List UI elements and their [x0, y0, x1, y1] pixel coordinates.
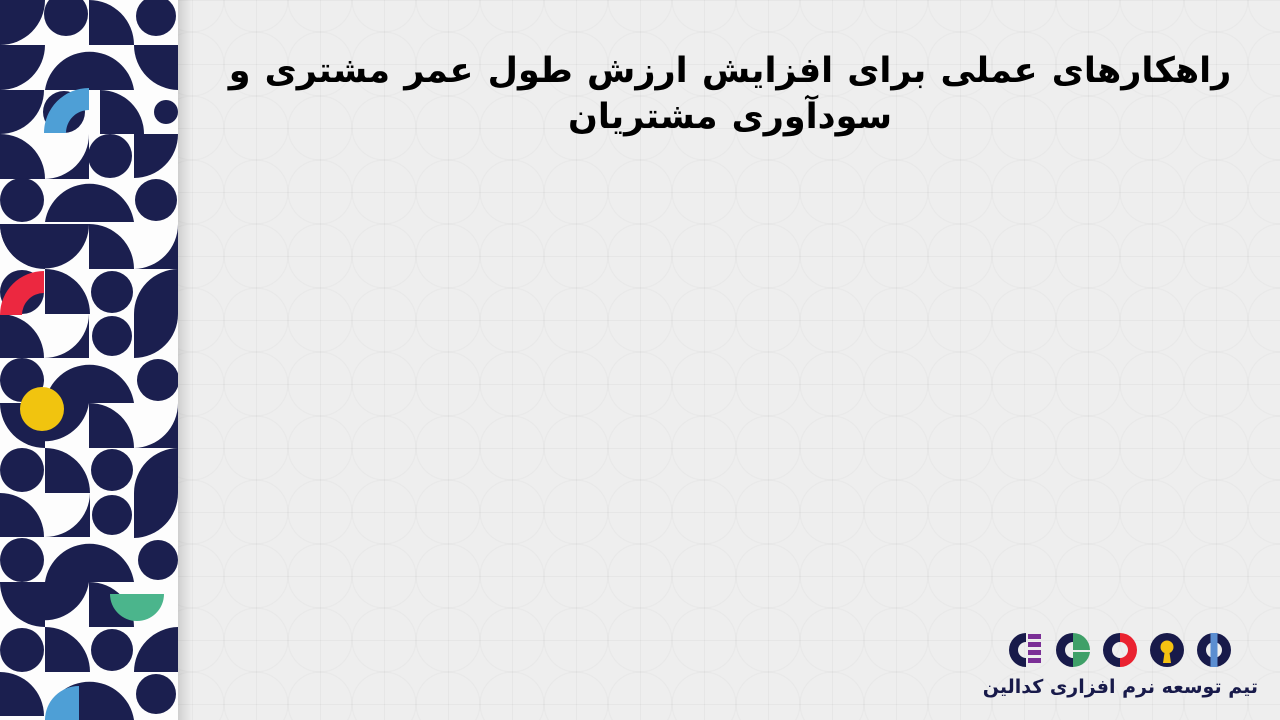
footer-logo[interactable]: تیم توسعه نرم افزاری کدالین: [983, 631, 1258, 698]
logo-mark-row: [983, 631, 1258, 669]
logo-mark-green-pie-icon: [1054, 631, 1092, 669]
logo-mark-yellow-key-icon: [1148, 631, 1186, 669]
logo-mark-purple-bars-icon: [1007, 631, 1045, 669]
logo-mark-red-split-icon: [1101, 631, 1139, 669]
decorative-pattern-panel: [0, 0, 178, 720]
bauhaus-pattern: [0, 0, 178, 720]
page-title: راهکارهای عملی برای افزایش ارزش طول عمر …: [200, 48, 1260, 140]
logo-mark-blue-bar-icon: [1195, 631, 1233, 669]
steps-container: ۱ شخصی سازی تجربه مشتری و خدمات ویژه برا…: [180, 190, 1280, 580]
accent-yellow-dot: [20, 387, 64, 431]
title-container: راهکارهای عملی برای افزایش ارزش طول عمر …: [200, 48, 1260, 140]
brand-name: تیم توسعه نرم افزاری کدالین: [983, 676, 1258, 698]
infographic-slide: راهکارهای عملی برای افزایش ارزش طول عمر …: [0, 0, 1280, 720]
